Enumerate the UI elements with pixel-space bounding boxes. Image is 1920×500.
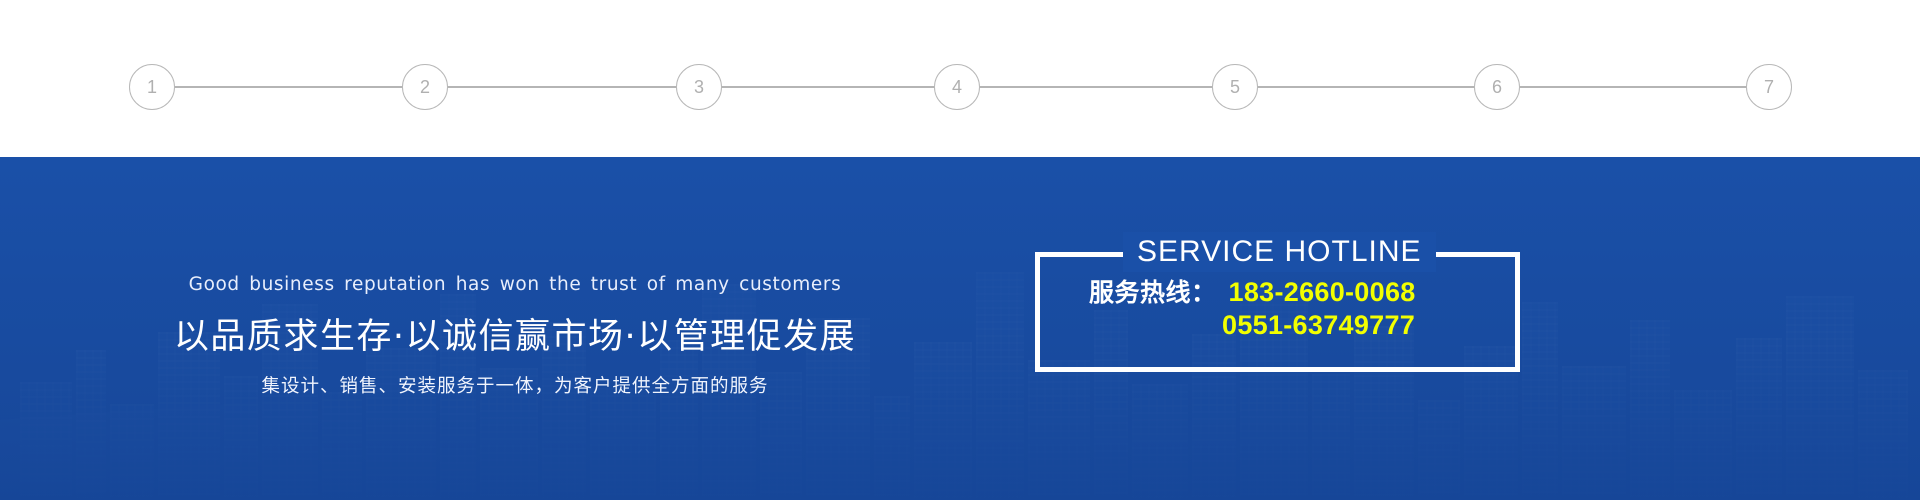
stepper-step-label: 6 [1492,78,1502,96]
stepper-step-6[interactable]: 6 [1474,64,1520,110]
hotline-box: SERVICE HOTLINE 服务热线： 183-2660-0068 0551… [1035,232,1520,372]
hotline-label: 服务热线： [1089,278,1217,309]
banner-slogan-block: Good business reputation has won the tru… [0,157,1030,500]
stepper: 1 2 3 4 5 6 7 [0,0,1920,157]
stepper-step-label: 5 [1230,78,1240,96]
stepper-step-1[interactable]: 1 [129,64,175,110]
stepper-step-7[interactable]: 7 [1746,64,1792,110]
hotline-title: SERVICE HOTLINE [1123,232,1436,272]
stepper-step-label: 1 [147,78,157,96]
page-root: 1 2 3 4 5 6 7 [0,0,1920,500]
stepper-step-label: 2 [420,78,430,96]
headline-chinese: 以品质求生存·以诚信赢市场·以管理促发展 [174,308,856,359]
stepper-step-4[interactable]: 4 [934,64,980,110]
hotline-rows: 服务热线： 183-2660-0068 0551-63749777 [1035,276,1520,342]
stepper-step-5[interactable]: 5 [1212,64,1258,110]
stepper-step-2[interactable]: 2 [402,64,448,110]
hotline-number-landline[interactable]: 0551-63749777 [1222,309,1415,342]
stepper-step-label: 4 [952,78,962,96]
promo-banner: Good business reputation has won the tru… [0,157,1920,500]
stepper-step-label: 7 [1764,78,1774,96]
subline-chinese: 集设计、销售、安装服务于一体，为客户提供全方面的服务 [261,372,768,398]
stepper-step-label: 3 [694,78,704,96]
hotline-number-mobile[interactable]: 183-2660-0068 [1229,276,1416,309]
tagline-english: Good business reputation has won the tru… [189,274,842,295]
hotline-row-primary: 服务热线： 183-2660-0068 [1089,276,1520,309]
hotline-row-secondary: 0551-63749777 [1089,309,1520,342]
stepper-step-3[interactable]: 3 [676,64,722,110]
